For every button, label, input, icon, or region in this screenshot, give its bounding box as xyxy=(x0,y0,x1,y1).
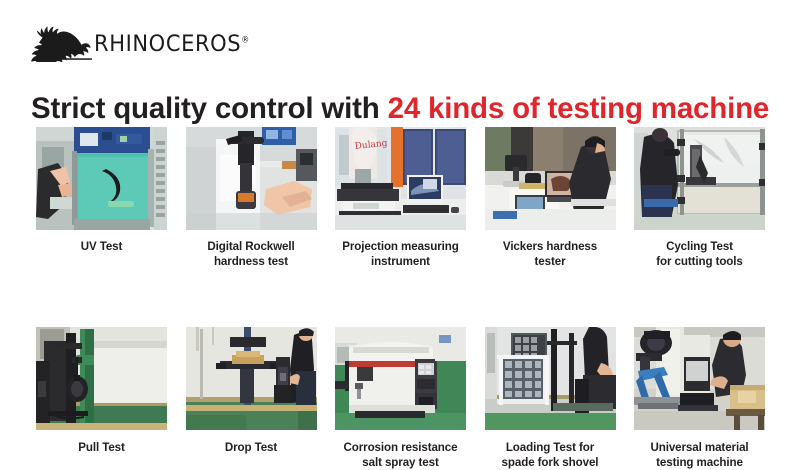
page-title: Strict quality control with 24 kinds of … xyxy=(31,91,776,128)
digital-rockwell-hardness-tester-photo xyxy=(186,127,317,230)
gallery-item-drop-test[interactable]: Drop Test xyxy=(186,327,317,455)
gallery-item-cycling-test[interactable]: Cycling Test for cutting tools xyxy=(634,127,765,270)
gallery-item-loading-test[interactable]: Loading Test for spade fork shovel xyxy=(485,327,616,470)
drop-test-rig-photo xyxy=(186,327,317,430)
gallery-item-projection-measuring[interactable]: Dulang xyxy=(335,127,466,270)
rhinoceros-logo-icon xyxy=(30,18,96,62)
gallery-item-caption: Vickers hardness tester xyxy=(503,239,597,270)
gallery-item-caption: Corrosion resistance salt spray test xyxy=(344,440,458,470)
brand-wordmark: RHINOCEROS® xyxy=(94,33,249,55)
vickers-hardness-tester-photo xyxy=(485,127,616,230)
pull-test-rig-photo xyxy=(36,327,167,430)
gallery-item-caption: Cycling Test for cutting tools xyxy=(656,239,743,270)
brand-logo: RHINOCEROS® xyxy=(30,16,230,62)
gallery-item-uv-test[interactable]: UV Test xyxy=(36,127,167,254)
page-title-highlight: 24 kinds of testing machine xyxy=(388,92,769,125)
gallery-item-caption: Universal material testing machine xyxy=(650,440,748,470)
salt-spray-chamber-photo xyxy=(335,327,466,430)
uv-test-chamber-photo xyxy=(36,127,167,230)
registered-mark: ® xyxy=(241,35,249,45)
projection-measuring-instrument-photo: Dulang xyxy=(335,127,466,230)
gallery-item-caption: UV Test xyxy=(81,239,123,254)
slide-root: RHINOCEROS® Strict quality control with … xyxy=(0,0,800,449)
gallery-item-caption: Projection measuring instrument xyxy=(342,239,459,270)
gallery-row: Pull Test xyxy=(36,327,765,470)
loading-test-rack-photo xyxy=(485,327,616,430)
page-title-lead: Strict quality control with xyxy=(31,92,388,125)
gallery-item-caption: Pull Test xyxy=(78,440,125,455)
universal-material-testing-machine-photo xyxy=(634,327,765,430)
cycling-test-machine-photo xyxy=(634,127,765,230)
gallery-item-pull-test[interactable]: Pull Test xyxy=(36,327,167,455)
testing-machine-gallery: UV Test xyxy=(36,127,765,470)
gallery-row: UV Test xyxy=(36,127,765,270)
brand-name-text: RHINOCEROS xyxy=(94,31,241,56)
gallery-item-digital-rockwell[interactable]: Digital Rockwell hardness test xyxy=(186,127,317,270)
gallery-item-universal-material[interactable]: Universal material testing machine xyxy=(634,327,765,470)
gallery-item-caption: Loading Test for spade fork shovel xyxy=(502,440,599,470)
gallery-item-corrosion-salt-spray[interactable]: Corrosion resistance salt spray test xyxy=(335,327,466,470)
gallery-item-caption: Drop Test xyxy=(225,440,277,455)
gallery-item-vickers-hardness[interactable]: Vickers hardness tester xyxy=(485,127,616,270)
gallery-item-caption: Digital Rockwell hardness test xyxy=(207,239,294,270)
